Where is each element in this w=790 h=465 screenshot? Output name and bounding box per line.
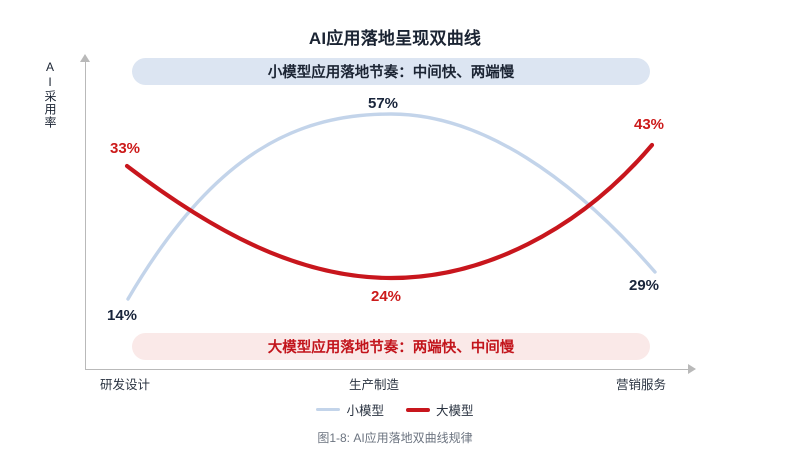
data-label-small-model-left: 14%: [107, 307, 137, 324]
legend-label-large-model: 大模型: [436, 400, 474, 419]
x-axis-tick-label-2: 营销服务: [616, 374, 666, 393]
legend-label-small-model: 小模型: [346, 400, 384, 419]
chart-figure: AI应用落地呈现双曲线 小模型应用落地节奏：中间快、两端慢 AI采用率 57% …: [0, 0, 790, 465]
x-axis-tick-label-0: 研发设计: [100, 374, 150, 393]
legend-swatch-large-model-icon: [406, 408, 430, 412]
chart-legend: 小模型 大模型: [0, 400, 790, 419]
chart-plot-area: [0, 0, 790, 465]
series-line-small-model: [128, 114, 655, 299]
data-label-small-model-right: 29%: [629, 277, 659, 294]
figure-caption: 图1-8: AI应用落地双曲线规律: [0, 429, 790, 446]
legend-item-large-model[interactable]: 大模型: [406, 400, 474, 419]
x-axis-tick-label-1: 生产制造: [349, 374, 399, 393]
series-line-large-model: [127, 145, 652, 278]
data-label-large-model-right: 43%: [634, 116, 664, 133]
legend-swatch-small-model-icon: [316, 408, 340, 411]
data-label-large-model-trough: 24%: [371, 288, 401, 305]
annotation-banner-large-model: 大模型应用落地节奏：两端快、中间慢: [132, 333, 650, 360]
annotation-banner-large-model-label: 大模型应用落地节奏：两端快、中间慢: [268, 336, 515, 357]
data-label-large-model-left: 33%: [110, 140, 140, 157]
data-label-small-model-peak: 57%: [368, 95, 398, 112]
legend-item-small-model[interactable]: 小模型: [316, 400, 384, 419]
